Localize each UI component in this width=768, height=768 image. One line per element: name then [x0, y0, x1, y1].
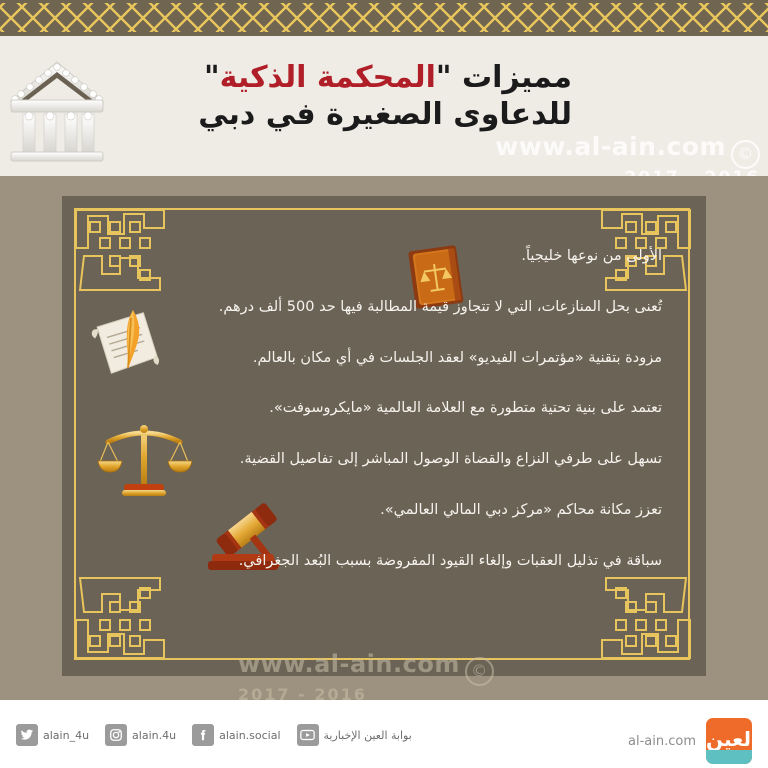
content-area: الأولى من نوعها خليجياً. تُعنى بحل المنا… — [0, 184, 768, 700]
list-item: سباقة في تذليل العقبات وإلغاء القيود الم… — [96, 551, 662, 573]
list-item: تُعنى بحل المنازعات، التي لا تتجاوز قيمة… — [96, 297, 662, 319]
footer: alain_4u alain.4u alain.social — [0, 700, 768, 768]
header-divider — [0, 176, 768, 184]
logo-teal-band — [706, 750, 752, 764]
social-label-facebook: alain.social — [219, 729, 280, 742]
instagram-icon[interactable] — [105, 724, 127, 746]
social-link-instagram[interactable]: alain.4u — [105, 724, 176, 746]
title-line-2: للدعاوى الصغيرة في دبي — [198, 97, 572, 134]
social-label-youtube: بوابة العين الإخبارية — [324, 729, 412, 742]
list-item: تعزز مكانة محاكم «مركز دبي المالي العالم… — [96, 500, 662, 522]
social-link-facebook[interactable]: alain.social — [192, 724, 280, 746]
title-highlight: المحكمة الذكية — [220, 60, 436, 95]
copyright-icon: © — [731, 140, 760, 169]
social-label-instagram: alain.4u — [132, 729, 176, 742]
top-ornament-band — [0, 0, 768, 36]
social-links: alain_4u alain.4u alain.social — [16, 724, 428, 746]
infographic-page: مميزات "المحكمة الذكية" للدعاوى الصغيرة … — [0, 0, 768, 768]
facebook-icon[interactable] — [192, 724, 214, 746]
social-link-twitter[interactable]: alain_4u — [16, 724, 89, 746]
watermark-site-line: ©www.al-ain.com — [495, 134, 760, 169]
title-suffix: " — [204, 60, 220, 95]
feature-list: الأولى من نوعها خليجياً. تُعنى بحل المنا… — [96, 246, 662, 601]
list-item: مزودة بتقنية «مؤتمرات الفيديو» لعقد الجل… — [96, 348, 662, 370]
title-line-1: مميزات "المحكمة الذكية" — [198, 60, 572, 97]
list-item: تسهل على طرفي النزاع والقضاة الوصول المب… — [96, 449, 662, 471]
list-item: تعتمد على بنية تحتية متطورة مع العلامة ا… — [96, 398, 662, 420]
title-prefix: مميزات " — [436, 60, 572, 95]
youtube-icon[interactable] — [297, 724, 319, 746]
list-item: الأولى من نوعها خليجياً. — [96, 246, 662, 268]
al-ain-logo[interactable]: العين — [706, 718, 752, 764]
social-link-youtube[interactable]: بوابة العين الإخبارية — [297, 724, 412, 746]
twitter-icon[interactable] — [16, 724, 38, 746]
band-edge-top — [0, 0, 768, 3]
brand-block[interactable]: al-ain.com العين — [628, 718, 752, 764]
page-title: مميزات "المحكمة الذكية" للدعاوى الصغيرة … — [198, 60, 572, 133]
site-url-label: al-ain.com — [628, 734, 696, 749]
social-label-twitter: alain_4u — [43, 729, 89, 742]
header: مميزات "المحكمة الذكية" للدعاوى الصغيرة … — [0, 36, 768, 184]
courthouse-icon — [8, 54, 106, 166]
watermark-site: www.al-ain.com — [495, 132, 726, 161]
